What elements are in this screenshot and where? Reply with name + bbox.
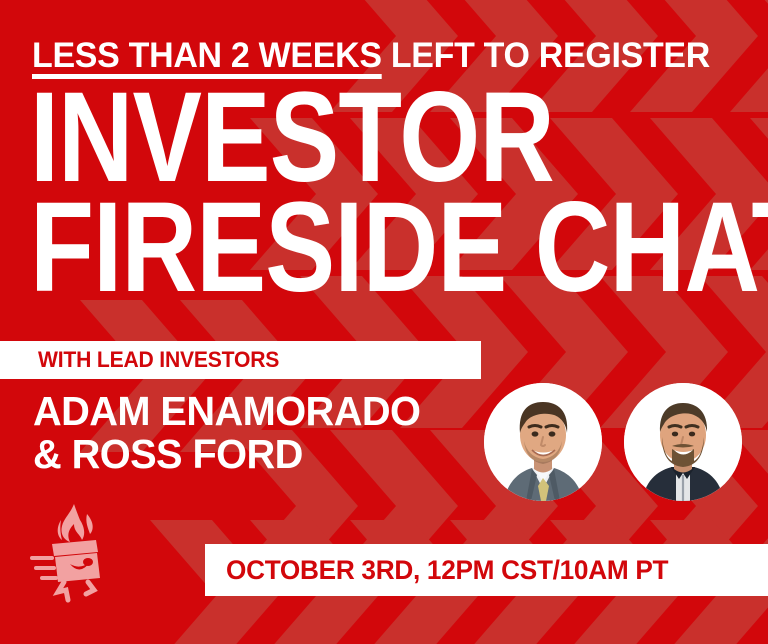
date-time-banner: OCTOBER 3RD, 12PM CST/10AM PT	[205, 544, 768, 596]
ross-ford-portrait	[624, 383, 742, 501]
with-lead-investors-banner: WITH LEAD INVESTORS	[0, 341, 481, 379]
flame-mascot-icon	[30, 500, 126, 604]
speaker-names: ADAM ENAMORADO & ROSS FORD	[33, 390, 420, 475]
avatar-ross-ford	[624, 383, 742, 501]
promo-poster: LESS THAN 2 WEEKS LEFT TO REGISTER INVES…	[0, 0, 768, 644]
adam-enamorado-portrait	[484, 383, 602, 501]
title-line-2: FIRESIDE CHAT	[30, 194, 768, 301]
speaker-name-line-1: ADAM ENAMORADO	[33, 390, 420, 433]
avatar-adam-enamorado	[484, 383, 602, 501]
running-flame-mascot	[30, 500, 126, 604]
speaker-name-line-2: & ROSS FORD	[33, 433, 420, 476]
with-lead-investors-label: WITH LEAD INVESTORS	[38, 347, 279, 373]
date-time-label: OCTOBER 3RD, 12PM CST/10AM PT	[226, 555, 668, 586]
title-line-1: INVESTOR	[30, 84, 554, 191]
